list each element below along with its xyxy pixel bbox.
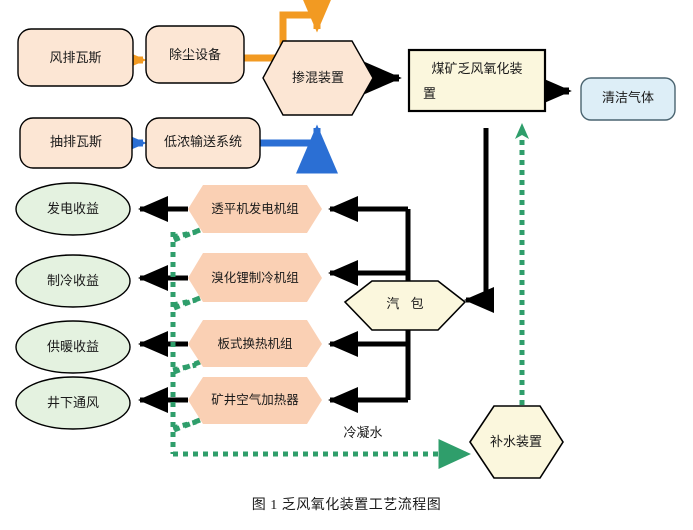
node-chou-pai-wa-si[interactable]: 抽排瓦斯 [20, 118, 132, 168]
node-ban-shi-huan-re[interactable]: 板式换热机组 [188, 320, 322, 367]
node-tou-ping-ji[interactable]: 透平机发电机组 [188, 185, 322, 233]
node-qi-bao[interactable]: 汽 包 [345, 281, 465, 330]
diag-kuangjing [174, 420, 200, 430]
node-mei-kuang-yang-hua[interactable]: 煤矿乏风氧化装 置 [409, 50, 545, 111]
fa-dian-shou-yi-label: 发电收益 [47, 201, 99, 216]
mei-kuang-yang-hua-label-line1: 煤矿乏风氧化装 [431, 61, 522, 76]
node-xiu-hua-li[interactable]: 溴化锂制冷机组 [188, 253, 322, 302]
node-gong-nuan-shou-yi[interactable]: 供暖收益 [16, 321, 130, 373]
mei-kuang-yang-hua-label-line2: 置 [423, 86, 436, 101]
bu-shui-zhuang-zhi-label: 补水装置 [490, 434, 542, 449]
feng-pai-wa-si-label: 风排瓦斯 [49, 50, 101, 65]
node-chan-hun-zhuang-zhi[interactable]: 掺混装置 [263, 41, 373, 115]
node-zhi-leng-shou-yi[interactable]: 制冷收益 [16, 255, 130, 307]
figure-root: 风排瓦斯 除尘设备 抽排瓦斯 低浓输送系统 掺混装置 煤矿乏风氧化装 置 [0, 0, 693, 530]
edge-dinong-to-chanhun [260, 128, 317, 143]
node-bu-shui-zhuang-zhi[interactable]: 补水装置 [470, 406, 563, 478]
leng-ning-shui-label: 冷凝水 [343, 425, 382, 440]
node-chu-chen-she-bei[interactable]: 除尘设备 [146, 26, 244, 83]
figure-caption: 图 1 乏风氧化装置工艺流程图 [0, 494, 693, 514]
node-kuang-jing-jia-re[interactable]: 矿井空气加热器 [188, 377, 322, 424]
qing-jie-qi-ti-label: 清洁气体 [602, 90, 654, 105]
node-jing-xia-tong-feng[interactable]: 井下通风 [16, 377, 130, 429]
jing-xia-tong-feng-label: 井下通风 [47, 395, 99, 410]
tou-ping-ji-label: 透平机发电机组 [211, 201, 299, 216]
chou-pai-wa-si-label: 抽排瓦斯 [50, 134, 102, 149]
node-qing-jie-qi-ti[interactable]: 清洁气体 [581, 78, 675, 120]
node-di-nong-shu-song[interactable]: 低浓输送系统 [146, 118, 260, 168]
ban-shi-huan-re-label: 板式换热机组 [217, 337, 292, 351]
mei-kuang-yang-hua-shape [409, 50, 545, 111]
di-nong-shu-song-label: 低浓输送系统 [164, 134, 242, 149]
chu-chen-she-bei-label: 除尘设备 [169, 47, 221, 62]
gong-nuan-shou-yi-label: 供暖收益 [47, 339, 99, 354]
chan-hun-zhuang-zhi-label: 掺混装置 [292, 70, 344, 85]
zhi-leng-shou-yi-label: 制冷收益 [47, 273, 99, 288]
process-flow-diagram: 风排瓦斯 除尘设备 抽排瓦斯 低浓输送系统 掺混装置 煤矿乏风氧化装 置 [0, 0, 693, 530]
edge-yanghua-to-qibao [466, 128, 486, 300]
node-fa-dian-shou-yi[interactable]: 发电收益 [16, 183, 130, 235]
condensate-riser-arrowhead [515, 123, 529, 139]
kuang-jing-jia-re-label: 矿井空气加热器 [211, 392, 299, 407]
qi-bao-label: 汽 包 [386, 296, 427, 311]
xiu-hua-li-label: 溴化锂制冷机组 [211, 270, 299, 285]
node-feng-pai-wa-si[interactable]: 风排瓦斯 [18, 29, 133, 86]
black-benefit-edges [140, 209, 188, 400]
